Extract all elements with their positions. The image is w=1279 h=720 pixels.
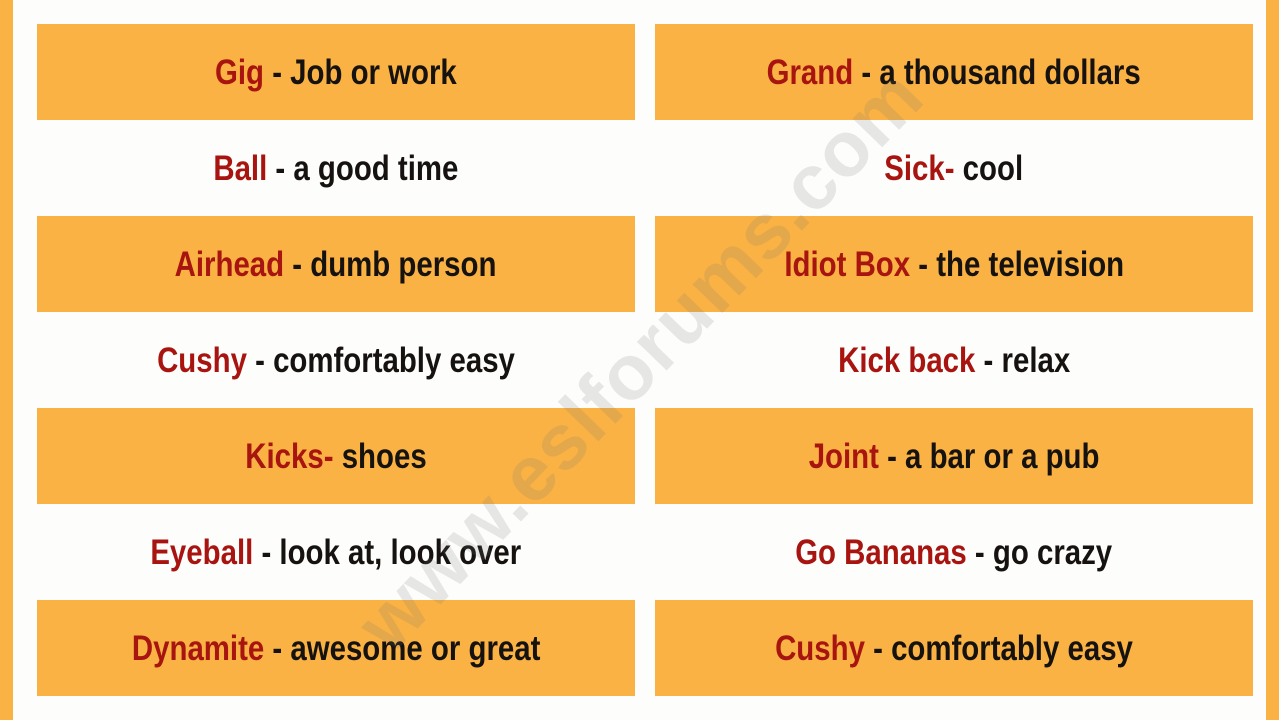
slang-entry-row: Kicks- shoes bbox=[37, 408, 635, 504]
slang-entry: Ball - a good time bbox=[213, 151, 458, 186]
slang-entry: Idiot Box - the television bbox=[784, 247, 1124, 282]
slang-separator: - bbox=[975, 341, 1001, 380]
slang-separator: - bbox=[264, 629, 290, 668]
slang-entry-row: Joint - a bar or a pub bbox=[655, 408, 1253, 504]
slang-separator: - bbox=[879, 437, 905, 476]
slang-definition: go crazy bbox=[993, 533, 1112, 572]
slang-term: Dynamite bbox=[132, 629, 264, 668]
slang-separator: - bbox=[267, 149, 293, 188]
slang-term: Cushy bbox=[775, 629, 865, 668]
slang-entry-row: Airhead - dumb person bbox=[37, 216, 635, 312]
slang-entry-row: Kick back - relax bbox=[655, 312, 1253, 408]
slang-term: Joint bbox=[809, 437, 879, 476]
slang-definition: dumb person bbox=[311, 245, 497, 284]
entries-grid: Gig - Job or workBall - a good timeAirhe… bbox=[0, 0, 1279, 720]
slang-definition: the television bbox=[936, 245, 1124, 284]
left-column: Gig - Job or workBall - a good timeAirhe… bbox=[37, 0, 635, 720]
left-border-rail bbox=[0, 0, 13, 720]
slang-term: Gig bbox=[215, 53, 264, 92]
slang-separator bbox=[334, 437, 342, 476]
slang-term: Kicks- bbox=[245, 437, 333, 476]
slang-separator: - bbox=[285, 245, 311, 284]
slang-entry-row: Sick- cool bbox=[655, 120, 1253, 216]
slang-entry-row: Gig - Job or work bbox=[37, 24, 635, 120]
slang-separator: - bbox=[865, 629, 891, 668]
slang-entry-row: Dynamite - awesome or great bbox=[37, 600, 635, 696]
slang-term: Kick back bbox=[838, 341, 975, 380]
slang-definition: cool bbox=[963, 149, 1023, 188]
slang-entry-row: Idiot Box - the television bbox=[655, 216, 1253, 312]
slang-definition: Job or work bbox=[290, 53, 457, 92]
slang-entry-row: Eyeball - look at, look over bbox=[37, 504, 635, 600]
slang-definition: a thousand dollars bbox=[880, 53, 1141, 92]
slang-term: Eyeball bbox=[151, 533, 254, 572]
slang-entry: Dynamite - awesome or great bbox=[132, 631, 540, 666]
slang-entry-row bbox=[37, 696, 635, 720]
slang-definition: awesome or great bbox=[290, 629, 540, 668]
slang-entry: Joint - a bar or a pub bbox=[809, 439, 1100, 474]
slang-definition: look at, look over bbox=[280, 533, 522, 572]
slang-entry-row bbox=[37, 0, 635, 24]
slang-entry: Eyeball - look at, look over bbox=[151, 535, 522, 570]
slang-entry-row: Go Bananas - go crazy bbox=[655, 504, 1253, 600]
slang-entry: Cushy - comfortably easy bbox=[775, 631, 1133, 666]
slang-entry: Sick- cool bbox=[885, 151, 1024, 186]
right-border-rail bbox=[1266, 0, 1279, 720]
slang-entry: Kicks- shoes bbox=[245, 439, 426, 474]
slang-definition: a bar or a pub bbox=[905, 437, 1099, 476]
slang-entry: Grand - a thousand dollars bbox=[767, 55, 1141, 90]
slang-separator: - bbox=[854, 53, 880, 92]
slang-entry-row: Grand - a thousand dollars bbox=[655, 24, 1253, 120]
slang-term: Cushy bbox=[157, 341, 247, 380]
slang-entry: Kick back - relax bbox=[838, 343, 1070, 378]
slang-entry: Airhead - dumb person bbox=[175, 247, 497, 282]
slang-definition: comfortably easy bbox=[273, 341, 515, 380]
slang-entry-row: Ball - a good time bbox=[37, 120, 635, 216]
slang-definition: a good time bbox=[294, 149, 459, 188]
slang-term: Airhead bbox=[175, 245, 284, 284]
slang-definition: shoes bbox=[342, 437, 427, 476]
slang-term: Go Bananas bbox=[796, 533, 968, 572]
slang-term: Grand bbox=[767, 53, 854, 92]
slang-definition: comfortably easy bbox=[891, 629, 1133, 668]
right-column: Grand - a thousand dollarsSick- coolIdio… bbox=[655, 0, 1253, 720]
slang-separator: - bbox=[967, 533, 993, 572]
slang-separator: - bbox=[264, 53, 290, 92]
slang-definition: relax bbox=[1001, 341, 1070, 380]
slang-term: Ball bbox=[213, 149, 267, 188]
slang-entry-row: Cushy - comfortably easy bbox=[37, 312, 635, 408]
slang-entry-row bbox=[655, 696, 1253, 720]
slang-separator: - bbox=[247, 341, 273, 380]
slang-entry-row: Cushy - comfortably easy bbox=[655, 600, 1253, 696]
slang-entry-row bbox=[655, 0, 1253, 24]
slang-separator: - bbox=[254, 533, 280, 572]
slang-separator: - bbox=[910, 245, 936, 284]
slang-entry: Gig - Job or work bbox=[215, 55, 457, 90]
slang-entry: Cushy - comfortably easy bbox=[157, 343, 515, 378]
slang-term: Sick- bbox=[885, 149, 955, 188]
slang-term: Idiot Box bbox=[784, 245, 910, 284]
slang-poster: www.eslforums.com Gig - Job or workBall … bbox=[0, 0, 1279, 720]
slang-entry: Go Bananas - go crazy bbox=[796, 535, 1113, 570]
